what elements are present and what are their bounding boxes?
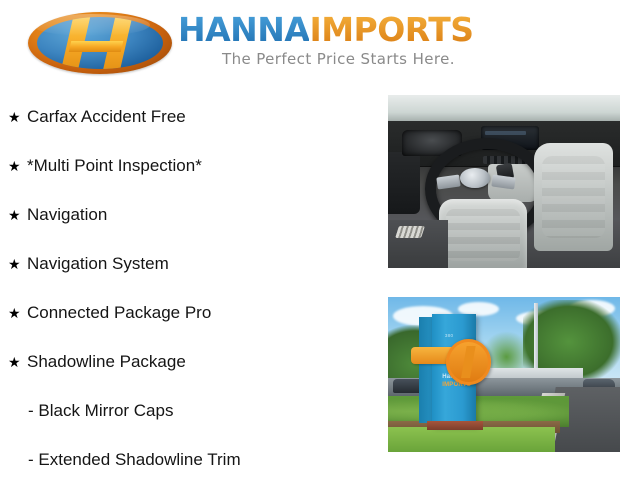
feature-label: Navigation System [27,254,169,274]
foot-rest-pedal [395,226,424,238]
star-bullet-icon: ★ [8,208,21,222]
wordmark-text: HANNAIMPORTS [178,12,518,48]
page-header: HANNAIMPORTS The Perfect Price Starts He… [0,0,640,88]
wordmark-hanna: HANNA [178,10,309,49]
feature-sub-label: - Extended Shadowline Trim [28,450,241,470]
brand-logo[interactable] [28,8,176,76]
list-item: ★ Navigation [0,190,386,239]
vehicle-features-list: ★ Carfax Accident Free ★ *Multi Point In… [0,92,386,484]
list-item: ★ Connected Package Pro [0,288,386,337]
feature-sub-label: - Black Mirror Caps [28,401,173,421]
star-bullet-icon: ★ [8,159,21,173]
logo-emblem-icon [28,12,172,74]
logo-h-crossbar [69,41,124,52]
vehicle-interior-photo[interactable] [388,95,620,268]
list-item-sub: - Black Mirror Caps [0,386,386,435]
sign-emblem-stroke [461,346,475,378]
feature-label: Navigation [27,205,107,225]
brand-tagline: The Perfect Price Starts Here. [222,50,518,68]
list-item: ★ Shadowline Package [0,337,386,386]
grass [388,427,555,452]
driver-door-panel [388,152,420,214]
brand-wordmark: HANNAIMPORTS The Perfect Price Starts He… [178,12,518,68]
wordmark-imports: IMPORTS [309,10,473,49]
feature-label: *Multi Point Inspection* [27,156,202,176]
dealership-sign-photo[interactable]: 380 Hanna IMPORTS [388,297,620,452]
passenger-seat [534,143,613,250]
sign-address-number: 380 [445,333,453,338]
star-bullet-icon: ★ [8,257,21,271]
driver-seat [439,199,527,268]
feature-label: Shadowline Package [27,352,186,372]
list-item: ★ *Multi Point Inspection* [0,141,386,190]
feature-label: Connected Package Pro [27,303,211,323]
star-bullet-icon: ★ [8,355,21,369]
list-item-sub: - Extended Shadowline Trim [0,435,386,484]
feature-label: Carfax Accident Free [27,107,186,127]
list-item: ★ Carfax Accident Free [0,92,386,141]
star-bullet-icon: ★ [8,110,21,124]
list-item: ★ Navigation System [0,239,386,288]
sign-brick-base [427,421,483,430]
logo-gloss [32,14,150,36]
star-bullet-icon: ★ [8,306,21,320]
